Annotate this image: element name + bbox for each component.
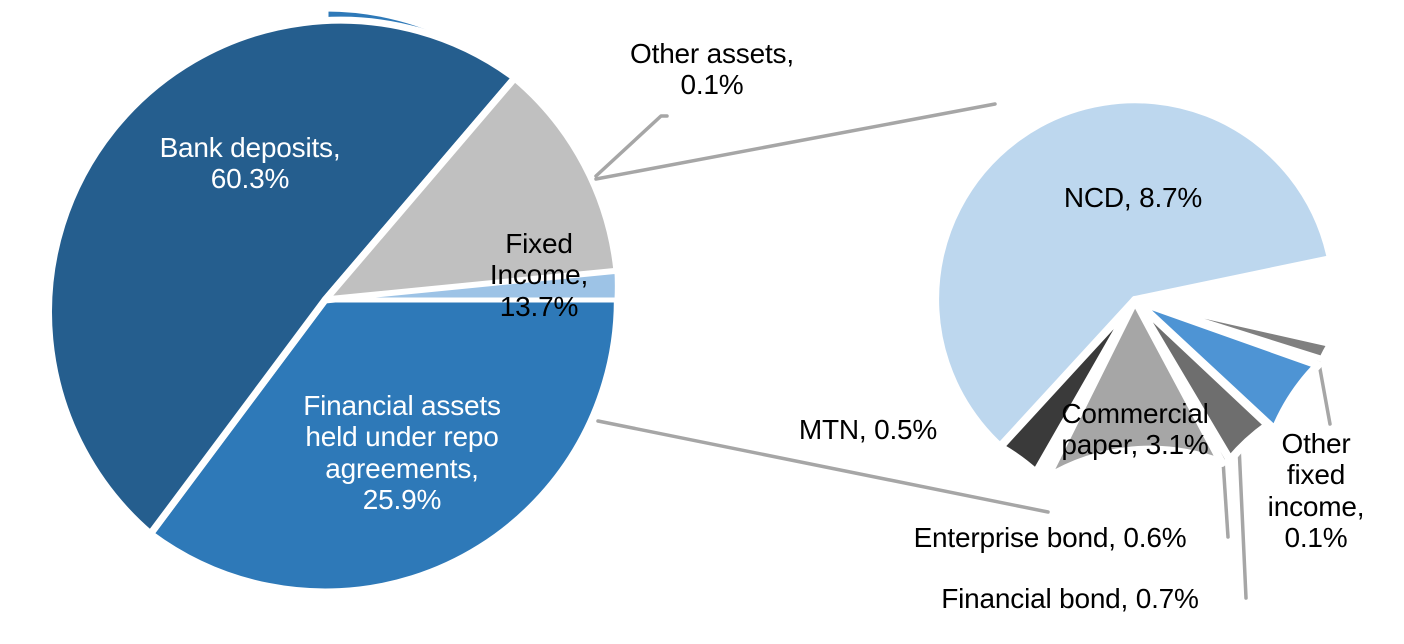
slice-label-mtn: MTN, 0.5%	[768, 414, 968, 445]
pie-chart-figure: Bank deposits, 60.3% Fixed Income, 13.7%…	[0, 0, 1404, 644]
slice-label-repo-agreements: Financial assets held under repo agreeme…	[252, 390, 552, 515]
slice-label-bank-deposits: Bank deposits, 60.3%	[120, 132, 380, 195]
connector-fixed-income-top	[596, 104, 995, 179]
slice-label-fixed-income: Fixed Income, 13.7%	[454, 228, 624, 322]
slice-label-ncd: NCD, 8.7%	[1028, 182, 1238, 213]
slice-label-other-assets: Other assets, 0.1%	[592, 38, 832, 101]
slice-label-enterprise-bond: Enterprise bond, 0.6%	[870, 522, 1230, 553]
slice-label-financial-bond: Financial bond, 0.7%	[900, 583, 1240, 614]
slice-label-commercial-paper: Commercial paper, 3.1%	[1030, 398, 1240, 461]
slice-label-other-fixed-income: Other fixed income, 0.1%	[1256, 428, 1376, 553]
